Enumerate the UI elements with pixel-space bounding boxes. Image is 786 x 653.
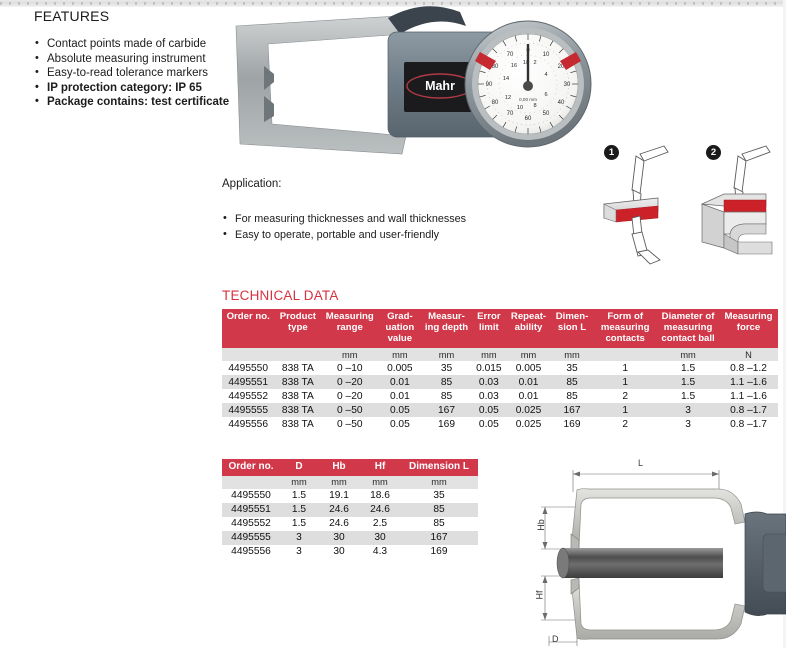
svg-text:12: 12 xyxy=(505,95,511,101)
technical-col-header-0: Order no. xyxy=(222,309,274,348)
dimension-unit-1: mm xyxy=(280,476,318,489)
technical-units-row: mmmmmmmmmmmmmmN xyxy=(222,348,778,361)
svg-text:14: 14 xyxy=(503,76,509,82)
technical-cell-r2-c4: 85 xyxy=(422,389,472,403)
application-label: Application: xyxy=(222,178,512,190)
svg-text:2: 2 xyxy=(533,60,536,66)
dimension-table-head: Order no.DHbHfDimension L xyxy=(222,459,478,476)
technical-cell-r0-c6: 0.005 xyxy=(506,361,551,375)
technical-unit-0 xyxy=(222,348,274,361)
dimension-cell-r4-c1: 3 xyxy=(280,545,318,559)
technical-cell-r1-c7: 85 xyxy=(551,375,593,389)
feature-item-3: IP protection category: IP 65 xyxy=(34,82,234,96)
dimension-col-header-2: Hb xyxy=(318,459,360,476)
features-title: FEATURES xyxy=(34,8,234,24)
technical-data-table: Order no.ProducttypeMeasuringrangeGrad-u… xyxy=(222,309,778,431)
technical-cell-r2-c2: 0 –20 xyxy=(321,389,378,403)
svg-text:70: 70 xyxy=(507,52,514,58)
technical-cell-r0-c8: 1 xyxy=(593,361,657,375)
svg-text:10: 10 xyxy=(517,105,523,111)
technical-cell-r1-c10: 1.1 –1.6 xyxy=(719,375,778,389)
technical-cell-r2-c7: 85 xyxy=(551,389,593,403)
technical-cell-r1-c4: 85 xyxy=(422,375,472,389)
table-row: 4495551838 TA0 –200.01850.030.018511.51.… xyxy=(222,375,778,389)
dimension-cell-r4-c2: 30 xyxy=(318,545,360,559)
dimension-col-header-4: Dimension L xyxy=(400,459,478,476)
instrument-head-panel xyxy=(763,534,786,592)
technical-col-header-4: Measur-ing depth xyxy=(422,309,472,348)
dimension-cell-r0-c1: 1.5 xyxy=(280,489,318,503)
technical-cell-r4-c4: 169 xyxy=(422,417,472,431)
contact-form-diagrams: 1 2 xyxy=(596,138,782,268)
svg-text:10: 10 xyxy=(543,52,550,58)
application-item-0: For measuring thicknesses and wall thick… xyxy=(222,212,512,226)
technical-cell-r3-c3: 0.05 xyxy=(378,403,421,417)
dimension-cell-r1-c4: 85 xyxy=(400,503,478,517)
dimension-drawing: L Hb Hf D xyxy=(505,452,786,648)
dimension-cell-r0-c4: 35 xyxy=(400,489,478,503)
technical-cell-r4-c6: 0.025 xyxy=(506,417,551,431)
technical-cell-r2-c1: 838 TA xyxy=(274,389,321,403)
technical-unit-6: mm xyxy=(506,348,551,361)
table-row: 4495552838 TA0 –200.01850.030.018521.51.… xyxy=(222,389,778,403)
feature-item-0: Contact points made of carbide xyxy=(34,38,234,52)
features-section: FEATURES Contact points made of carbideA… xyxy=(34,8,234,111)
table-row: 44955521.524.62.585 xyxy=(222,517,478,531)
product-photo-svg: Mahr IP65 xyxy=(228,4,628,164)
application-item-1: Easy to operate, portable and user-frien… xyxy=(222,228,512,242)
technical-cell-r3-c5: 0.05 xyxy=(471,403,506,417)
table-row: 4495550838 TA0 –100.005350.0150.0053511.… xyxy=(222,361,778,375)
table-row: 44955501.519.118.635 xyxy=(222,489,478,503)
feature-item-4: Package contains: test certificate xyxy=(34,96,234,110)
technical-cell-r4-c5: 0.05 xyxy=(471,417,506,431)
svg-text:80: 80 xyxy=(492,100,499,106)
caliper-frame xyxy=(236,16,406,154)
technical-cell-r2-c5: 0.03 xyxy=(471,389,506,403)
dim-label-Hb: Hb xyxy=(536,519,546,531)
technical-unit-10: N xyxy=(719,348,778,361)
technical-col-header-2: Measuringrange xyxy=(321,309,378,348)
technical-cell-r3-c1: 838 TA xyxy=(274,403,321,417)
dimension-cell-r2-c4: 85 xyxy=(400,517,478,531)
dimension-cell-r3-c0: 4495555 xyxy=(222,531,280,545)
table-row: 449555533030167 xyxy=(222,531,478,545)
technical-cell-r4-c0: 4495556 xyxy=(222,417,274,431)
svg-text:40: 40 xyxy=(558,100,565,106)
dimension-drawing-svg xyxy=(505,452,786,648)
technical-cell-r1-c2: 0 –20 xyxy=(321,375,378,389)
svg-text:16: 16 xyxy=(511,63,517,69)
dimension-cell-r0-c2: 19.1 xyxy=(318,489,360,503)
technical-cell-r2-c9: 1.5 xyxy=(657,389,719,403)
technical-cell-r2-c3: 0.01 xyxy=(378,389,421,403)
dim-label-D: D xyxy=(552,634,559,644)
technical-unit-2: mm xyxy=(321,348,378,361)
workpiece-cylinder xyxy=(563,548,723,578)
technical-unit-9: mm xyxy=(657,348,719,361)
technical-cell-r3-c8: 1 xyxy=(593,403,657,417)
lower-arm xyxy=(571,580,745,639)
technical-col-header-8: Form ofmeasuringcontacts xyxy=(593,309,657,348)
dimension-cell-r1-c2: 24.6 xyxy=(318,503,360,517)
dim-label-L: L xyxy=(638,458,643,468)
technical-col-header-10: Measuringforce xyxy=(719,309,778,348)
technical-cell-r1-c9: 1.5 xyxy=(657,375,719,389)
contact-diagrams-svg xyxy=(596,138,782,268)
technical-cell-r4-c2: 0 –50 xyxy=(321,417,378,431)
technical-cell-r1-c6: 0.01 xyxy=(506,375,551,389)
technical-cell-r0-c5: 0.015 xyxy=(471,361,506,375)
technical-cell-r3-c9: 3 xyxy=(657,403,719,417)
dimension-col-header-1: D xyxy=(280,459,318,476)
dimension-cell-r1-c1: 1.5 xyxy=(280,503,318,517)
dimension-cell-r3-c3: 30 xyxy=(360,531,400,545)
dimension-unit-4: mm xyxy=(400,476,478,489)
contact-form-badge-2: 2 xyxy=(706,145,721,160)
workpiece-end-cap xyxy=(557,548,569,578)
technical-cell-r1-c8: 1 xyxy=(593,375,657,389)
dimension-cell-r0-c0: 4495550 xyxy=(222,489,280,503)
table-row: 4495555838 TA0 –500.051670.050.025167130… xyxy=(222,403,778,417)
dimension-cell-r4-c3: 4.3 xyxy=(360,545,400,559)
dimension-table-body: mmmmmmmm44955501.519.118.63544955511.524… xyxy=(222,476,478,559)
application-section: Application: For measuring thicknesses a… xyxy=(222,178,512,244)
dimension-col-header-3: Hf xyxy=(360,459,400,476)
table-row: 44955511.524.624.685 xyxy=(222,503,478,517)
dimension-unit-2: mm xyxy=(318,476,360,489)
technical-cell-r1-c3: 0.01 xyxy=(378,375,421,389)
svg-text:30: 30 xyxy=(564,82,571,88)
svg-text:60: 60 xyxy=(525,116,532,122)
technical-unit-1 xyxy=(274,348,321,361)
technical-cell-r4-c1: 838 TA xyxy=(274,417,321,431)
technical-unit-4: mm xyxy=(422,348,472,361)
technical-unit-8 xyxy=(593,348,657,361)
technical-cell-r3-c4: 167 xyxy=(422,403,472,417)
dimension-cell-r2-c0: 4495552 xyxy=(222,517,280,531)
technical-cell-r0-c1: 838 TA xyxy=(274,361,321,375)
technical-col-header-5: Errorlimit xyxy=(471,309,506,348)
technical-cell-r3-c10: 0.8 –1.7 xyxy=(719,403,778,417)
technical-cell-r0-c4: 35 xyxy=(422,361,472,375)
dimension-table: Order no.DHbHfDimension L mmmmmmmm449555… xyxy=(222,459,478,559)
dimension-col-header-0: Order no. xyxy=(222,459,280,476)
contact-form-badge-1: 1 xyxy=(604,145,619,160)
dimension-cell-r3-c1: 3 xyxy=(280,531,318,545)
svg-text:8: 8 xyxy=(533,103,536,109)
technical-cell-r4-c3: 0.05 xyxy=(378,417,421,431)
technical-cell-r1-c5: 0.03 xyxy=(471,375,506,389)
dimension-cell-r0-c3: 18.6 xyxy=(360,489,400,503)
technical-cell-r2-c10: 1.1 –1.6 xyxy=(719,389,778,403)
dimension-cell-r4-c0: 4495556 xyxy=(222,545,280,559)
technical-cell-r0-c10: 0.8 –1.2 xyxy=(719,361,778,375)
dimension-cell-r1-c0: 4495551 xyxy=(222,503,280,517)
technical-cell-r2-c8: 2 xyxy=(593,389,657,403)
technical-cell-r0-c2: 0 –10 xyxy=(321,361,378,375)
technical-cell-r4-c8: 2 xyxy=(593,417,657,431)
technical-cell-r3-c7: 167 xyxy=(551,403,593,417)
dimension-table-header-row: Order no.DHbHfDimension L xyxy=(222,459,478,476)
technical-cell-r0-c3: 0.005 xyxy=(378,361,421,375)
technical-unit-3: mm xyxy=(378,348,421,361)
technical-cell-r1-c1: 838 TA xyxy=(274,375,321,389)
technical-cell-r4-c9: 3 xyxy=(657,417,719,431)
dimension-cell-r2-c2: 24.6 xyxy=(318,517,360,531)
technical-col-header-9: Diameter ofmeasuringcontact ball xyxy=(657,309,719,348)
technical-cell-r4-c10: 0.8 –1.7 xyxy=(719,417,778,431)
feature-item-2: Easy-to-read tolerance markers xyxy=(34,67,234,81)
technical-unit-5: mm xyxy=(471,348,506,361)
technical-cell-r1-c0: 4495551 xyxy=(222,375,274,389)
dial-hub xyxy=(523,81,533,91)
technical-cell-r2-c0: 4495552 xyxy=(222,389,274,403)
svg-text:90: 90 xyxy=(486,82,493,88)
technical-cell-r3-c0: 4495555 xyxy=(222,403,274,417)
contact-diagram-2 xyxy=(702,146,772,254)
table-row: 4495556838 TA0 –500.051690.050.025169230… xyxy=(222,417,778,431)
dimension-cell-r4-c4: 169 xyxy=(400,545,478,559)
technical-cell-r4-c7: 169 xyxy=(551,417,593,431)
contact-diagram-1 xyxy=(604,146,668,264)
technical-cell-r3-c6: 0.025 xyxy=(506,403,551,417)
technical-cell-r0-c7: 35 xyxy=(551,361,593,375)
upper-arm xyxy=(571,489,745,548)
technical-data-header-row: Order no.ProducttypeMeasuringrangeGrad-u… xyxy=(222,309,778,348)
feature-item-1: Absolute measuring instrument xyxy=(34,53,234,67)
technical-unit-7: mm xyxy=(551,348,593,361)
features-list: Contact points made of carbideAbsolute m… xyxy=(34,38,234,110)
technical-col-header-6: Repeat-ability xyxy=(506,309,551,348)
table-row: 44955563304.3169 xyxy=(222,545,478,559)
dimension-unit-0 xyxy=(222,476,280,489)
dimension-cell-r2-c1: 1.5 xyxy=(280,517,318,531)
dial-unit-label: 0,00 mm xyxy=(519,97,537,102)
technical-cell-r2-c6: 0.01 xyxy=(506,389,551,403)
svg-text:50: 50 xyxy=(543,111,550,117)
dimension-cell-r3-c4: 167 xyxy=(400,531,478,545)
technical-data-head: Order no.ProducttypeMeasuringrangeGrad-u… xyxy=(222,309,778,348)
svg-text:6: 6 xyxy=(544,92,547,98)
dimension-cell-r1-c3: 24.6 xyxy=(360,503,400,517)
svg-text:4: 4 xyxy=(544,72,547,78)
dimension-units-row: mmmmmmmm xyxy=(222,476,478,489)
brand-name: Mahr xyxy=(425,79,455,93)
technical-data-body: mmmmmmmmmmmmmmN4495550838 TA0 –100.00535… xyxy=(222,348,778,431)
technical-cell-r0-c9: 1.5 xyxy=(657,361,719,375)
technical-cell-r0-c0: 4495550 xyxy=(222,361,274,375)
product-photo: Mahr IP65 xyxy=(228,4,628,164)
gauge-lever xyxy=(388,6,466,34)
dimension-cell-r2-c3: 2.5 xyxy=(360,517,400,531)
dimension-unit-3: mm xyxy=(360,476,400,489)
svg-text:70: 70 xyxy=(507,111,514,117)
application-list: For measuring thicknesses and wall thick… xyxy=(222,212,512,242)
dim-label-Hf: Hf xyxy=(535,591,545,600)
technical-cell-r3-c2: 0 –50 xyxy=(321,403,378,417)
technical-col-header-1: Producttype xyxy=(274,309,321,348)
dimension-cell-r3-c2: 30 xyxy=(318,531,360,545)
technical-col-header-7: Dimen-sion L xyxy=(551,309,593,348)
technical-col-header-3: Grad-uationvalue xyxy=(378,309,421,348)
technical-data-heading: TECHNICAL DATA xyxy=(222,288,339,303)
